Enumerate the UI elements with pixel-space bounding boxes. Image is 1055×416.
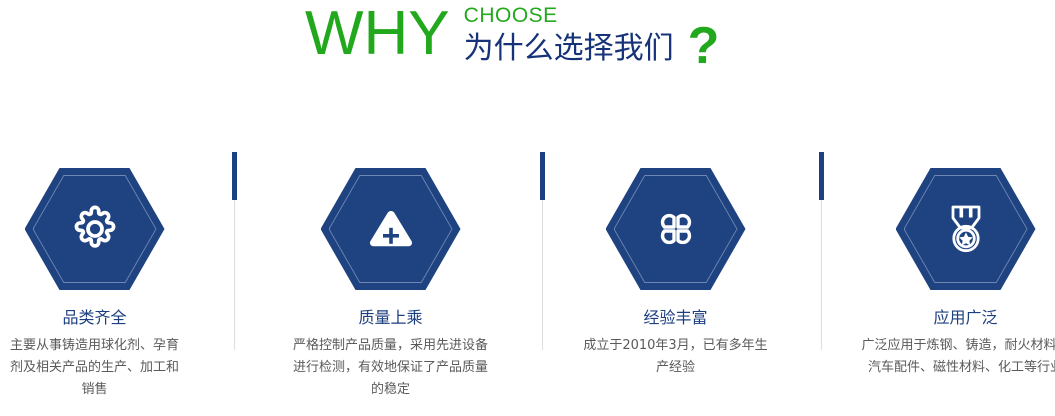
feature-title: 应用广泛 — [823, 308, 1055, 328]
feature-hexagon — [606, 168, 746, 290]
feature-title: 品类齐全 — [0, 308, 237, 328]
triangle-plus-icon — [321, 168, 461, 290]
feature-description: 成立于2010年3月，已有多年生产经验 — [533, 335, 818, 379]
feature-description: 广泛应用于炼钢、铸造，耐火材料、汽车配件、磁性材料、化工等行业 — [823, 335, 1055, 379]
clover-icon — [606, 168, 746, 290]
feature-item[interactable]: 质量上乘 严格控制产品质量，采用先进设备进行检测，有效地保证了产品质量的稳定 — [248, 140, 533, 416]
feature-title: 质量上乘 — [248, 308, 533, 328]
feature-item[interactable]: 品类齐全 主要从事铸造用球化剂、孕育剂及相关产品的生产、加工和销售 — [0, 140, 237, 416]
feature-item[interactable]: 应用广泛 广泛应用于炼钢、铸造，耐火材料、汽车配件、磁性材料、化工等行业 — [823, 140, 1055, 416]
heading-text-block: CHOOSE 为什么选择我们 — [464, 0, 674, 68]
feature-item[interactable]: 经验丰富 成立于2010年3月，已有多年生产经验 — [533, 140, 818, 416]
heading-chinese-title: 为什么选择我们 — [464, 30, 674, 68]
feature-description: 主要从事铸造用球化剂、孕育剂及相关产品的生产、加工和销售 — [0, 335, 237, 401]
why-choose-us-section: WHY CHOOSE 为什么选择我们 ? — [0, 0, 1055, 416]
feature-description: 严格控制产品质量，采用先进设备进行检测，有效地保证了产品质量的稳定 — [248, 335, 533, 401]
section-heading: WHY CHOOSE 为什么选择我们 ? — [0, 0, 1055, 90]
feature-title: 经验丰富 — [533, 308, 818, 328]
feature-hexagon — [896, 168, 1036, 290]
gear-icon — [25, 168, 165, 290]
feature-list: 品类齐全 主要从事铸造用球化剂、孕育剂及相关产品的生产、加工和销售 — [0, 140, 1055, 416]
feature-hexagon — [25, 168, 165, 290]
feature-hexagon — [321, 168, 461, 290]
divider-line — [821, 200, 822, 350]
heading-choose-text: CHOOSE — [464, 4, 674, 27]
heading-question-mark: ? — [688, 0, 720, 74]
medal-icon — [896, 168, 1036, 290]
heading-why-text: WHY — [305, 0, 450, 68]
